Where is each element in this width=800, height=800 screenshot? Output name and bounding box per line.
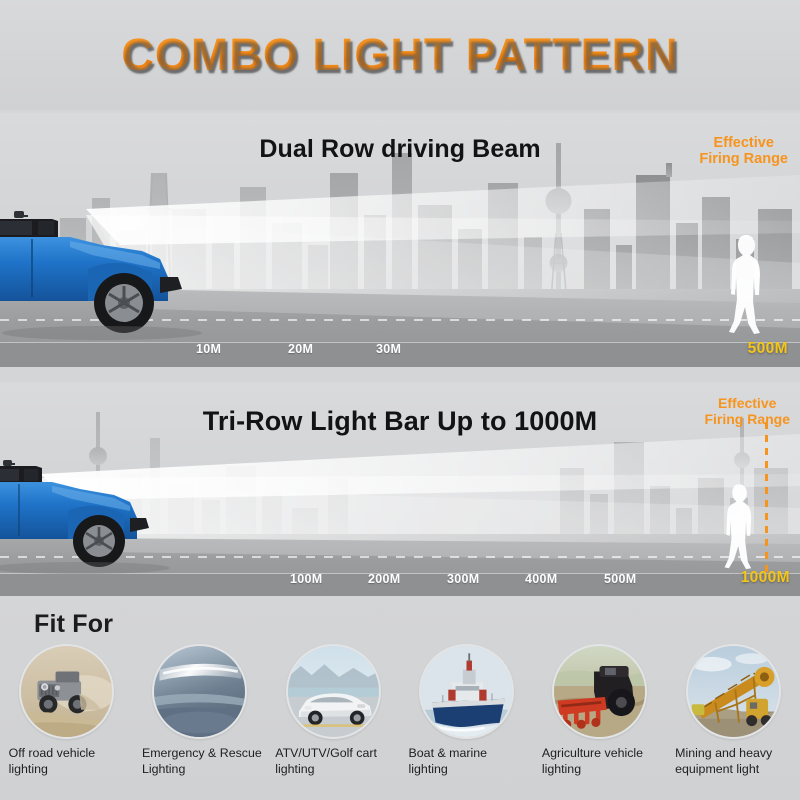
fit-image-light-bar xyxy=(152,644,247,739)
fit-image-white-sedan xyxy=(286,644,381,739)
panel-divider-gap xyxy=(0,367,800,382)
distance-marker: 30M xyxy=(376,342,401,356)
fit-for-items-row: Off road vehicle lighting xyxy=(0,644,800,794)
fit-item-label: Emergency & Rescue Lighting xyxy=(138,746,262,778)
distance-marker: 400M xyxy=(525,572,557,586)
beam-panel-dual-row: Effective Firing Range Dual Row driving … xyxy=(0,113,800,367)
fit-item[interactable]: Agriculture vehicle lighting xyxy=(533,644,666,794)
title-bar: COMBO LIGHT PATTERN COMBO LIGHT PATTERN xyxy=(0,0,800,110)
panel-heading-tri-row: Tri-Row Light Bar Up to 1000M xyxy=(203,406,597,436)
distance-marker: 500M xyxy=(604,572,636,586)
distance-marker: 20M xyxy=(288,342,313,356)
fit-item[interactable]: Boat & marine lighting xyxy=(400,644,533,794)
fit-for-section: Fit For xyxy=(0,596,800,800)
fit-item[interactable]: ATV/UTV/Golf cart lighting xyxy=(267,644,400,794)
effective-range-dashed-line xyxy=(765,422,768,574)
fit-image-tractor xyxy=(552,644,647,739)
fit-item[interactable]: Emergency & Rescue Lighting xyxy=(133,644,266,794)
fit-item[interactable]: Mining and heavy equipment light xyxy=(666,644,799,794)
fit-item-label: Off road vehicle lighting xyxy=(5,746,129,778)
distance-markers-dual-row: 10M 20M 30M 500M xyxy=(0,342,800,364)
fit-item-label: ATV/UTV/Golf cart lighting xyxy=(271,746,395,778)
distance-markers-tri-row: 100M 200M 300M 400M 500M 1000M xyxy=(0,572,800,594)
distance-marker: 300M xyxy=(447,572,479,586)
panel-heading-dual-row: Dual Row driving Beam xyxy=(259,135,540,163)
infographic-page: COMBO LIGHT PATTERN COMBO LIGHT PATTERN xyxy=(0,0,800,800)
distance-marker-final: 500M xyxy=(748,340,788,358)
page-title: COMBO LIGHT PATTERN xyxy=(121,29,678,81)
fit-item-label: Boat & marine lighting xyxy=(405,746,529,778)
fit-image-offroad-jeep xyxy=(19,644,114,739)
fit-for-heading: Fit For xyxy=(34,610,113,639)
vehicle-jeep-wrangler xyxy=(0,438,174,578)
title-wrap: COMBO LIGHT PATTERN COMBO LIGHT PATTERN xyxy=(121,29,678,81)
fit-item-label: Mining and heavy equipment light xyxy=(671,746,795,778)
person-silhouette xyxy=(726,233,768,339)
fit-image-cargo-ship xyxy=(419,644,514,739)
vehicle-jeep-wrangler xyxy=(0,185,202,345)
distance-marker: 100M xyxy=(290,572,322,586)
distance-marker-final: 1000M xyxy=(741,569,790,587)
fit-item[interactable]: Off road vehicle lighting xyxy=(0,644,133,794)
distance-marker: 10M xyxy=(196,342,221,356)
distance-marker: 200M xyxy=(368,572,400,586)
fit-item-label: Agriculture vehicle lighting xyxy=(538,746,662,778)
person-silhouette xyxy=(722,482,758,574)
beam-panel-tri-row: Effective Firing Range Tri-Row Light Bar… xyxy=(0,382,800,596)
fit-image-mining-equipment xyxy=(686,644,781,739)
